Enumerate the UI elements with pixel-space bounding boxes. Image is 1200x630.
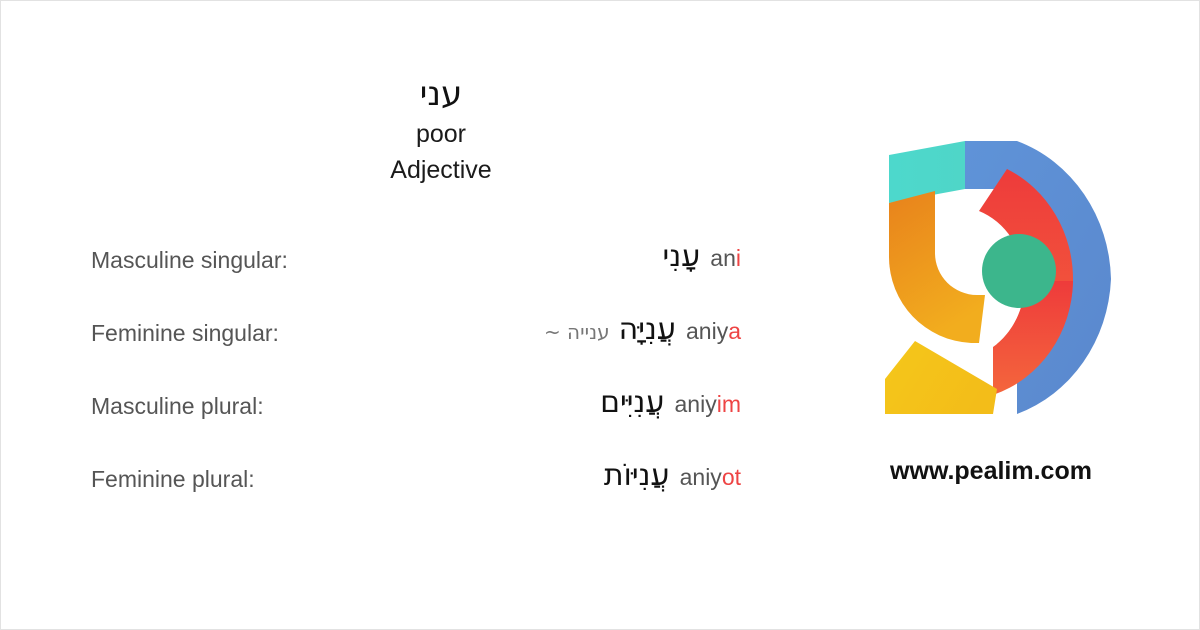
translit-accent: a — [728, 318, 741, 344]
hebrew-form: עָנִי — [662, 239, 700, 274]
form-label: Masculine singular: — [91, 247, 288, 274]
transliteration: aniyim — [675, 391, 741, 418]
headword-hebrew: עני — [1, 73, 881, 116]
headword-meaning: poor — [1, 116, 881, 152]
word-header: עני poor Adjective — [1, 73, 881, 188]
table-row: Feminine singular: ענייה ~ עֲנִיָּה aniy… — [91, 312, 741, 385]
transliteration: aniya — [686, 318, 741, 345]
translit-accent: im — [717, 391, 741, 417]
transliteration: ani — [710, 245, 741, 272]
form-value: ענייה ~ עֲנִיָּה aniya — [544, 312, 741, 347]
table-row: Feminine plural: עֲנִיּוֹת aniyot — [91, 458, 741, 531]
translit-base: aniy — [686, 318, 728, 344]
form-value: עָנִי ani — [653, 239, 741, 274]
form-label: Feminine singular: — [91, 320, 279, 347]
translit-base: aniy — [680, 464, 722, 490]
image-canvas: עני poor Adjective Masculine singular: ע… — [0, 0, 1200, 630]
translit-base: an — [710, 245, 736, 271]
hebrew-form: עֲנִיִּים — [600, 385, 664, 420]
translit-base: aniy — [675, 391, 717, 417]
translit-accent: ot — [722, 464, 741, 490]
transliteration: aniyot — [680, 464, 741, 491]
logo-segment-yellow — [885, 341, 997, 414]
hebrew-form: עֲנִיָּה — [619, 312, 676, 347]
form-value: עֲנִיּוֹת aniyot — [595, 458, 741, 493]
logo-segment-orange — [889, 191, 985, 343]
form-label: Feminine plural: — [91, 466, 255, 493]
headword-part-of-speech: Adjective — [1, 152, 881, 188]
form-label: Masculine plural: — [91, 393, 264, 420]
form-value: עֲנִיִּים aniyim — [591, 385, 741, 420]
pealim-logo-icon — [867, 129, 1115, 414]
table-row: Masculine plural: עֲנִיִּים aniyim — [91, 385, 741, 458]
alt-hebrew-form: ענייה ~ — [544, 320, 610, 344]
logo-dot-icon — [982, 234, 1056, 308]
site-url: www.pealim.com — [867, 457, 1115, 486]
table-row: Masculine singular: עָנִי ani — [91, 239, 741, 312]
hebrew-form: עֲנִיּוֹת — [604, 458, 670, 493]
translit-accent: i — [736, 245, 741, 271]
conjugation-table: Masculine singular: עָנִי ani Feminine s… — [91, 239, 741, 531]
